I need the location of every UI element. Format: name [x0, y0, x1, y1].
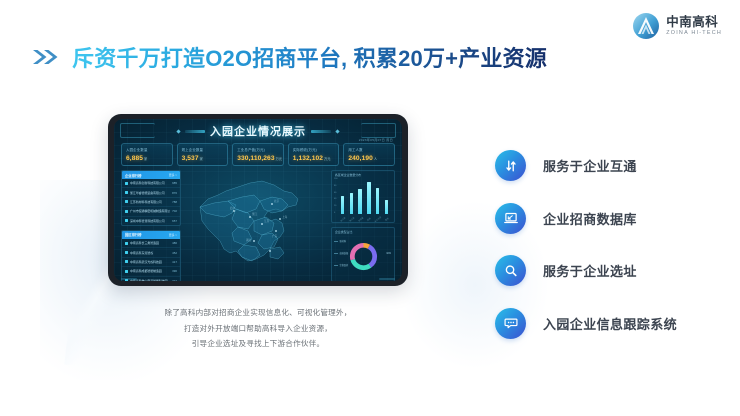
laptop-database-icon	[495, 203, 526, 234]
page-heading: 斥资千万打造O2O招商平台, 积累20万+产业资源	[32, 41, 547, 73]
kpi-card[interactable]: 规上企业数量 3,537家	[177, 143, 229, 166]
kpi-label: 用工人数	[348, 147, 390, 152]
feature-label: 入园企业信息跟踪系统	[543, 314, 677, 333]
feature-label: 企业招商数据库	[543, 209, 637, 228]
feature-item-enterprise-interop[interactable]: 服务于企业互通	[495, 150, 677, 181]
bar-chart-plot	[339, 178, 390, 214]
panel-more-link[interactable]: 更多 >	[169, 173, 177, 177]
y-tick: 80	[334, 185, 336, 187]
bar	[376, 188, 379, 214]
list-item[interactable]: 中南高科创新科技有限公司 985	[122, 179, 180, 188]
feature-item-tracking-system[interactable]: 入园企业信息跟踪系统	[495, 308, 677, 339]
list-item-value: 985	[172, 181, 177, 185]
brand-logo: 中南高科 ZOINA HI-TECH	[632, 12, 722, 40]
list-item[interactable]: 中南高科东莞智谷 452	[122, 248, 180, 257]
panel-title: 园区排行榜	[125, 232, 141, 237]
list-item-label: 深圳中科智慧科技有限公司	[130, 219, 170, 223]
bar	[350, 193, 353, 214]
chat-bubble-icon	[495, 308, 526, 339]
bar	[358, 189, 361, 214]
bar-column	[365, 178, 372, 214]
kpi-card[interactable]: 工业总产值(万元) 330,110,263万元	[232, 143, 284, 166]
list-item-label: 浙江华睿智能装备有限公司	[130, 191, 170, 195]
kpi-label: 工业总产值(万元)	[237, 147, 279, 152]
china-map-svg: 北京 上海 广东 江苏 浙江 湖北 四川	[184, 169, 326, 277]
kpi-card-row: 入园企业数量 6,885家 规上企业数量 3,537家 工业总产值(万元) 33…	[121, 143, 395, 166]
kpi-card[interactable]: 用工人数 240,190人	[343, 143, 395, 166]
bar	[341, 196, 344, 214]
y-tick: 100	[334, 178, 337, 180]
svg-text:上海: 上海	[282, 215, 288, 219]
panel-more-link[interactable]: 更多 >	[169, 233, 177, 237]
header-deco-left	[185, 130, 205, 133]
x-tick: 其他	[384, 217, 389, 222]
list-item[interactable]: 江苏新材料科技有限公司 788	[122, 198, 180, 207]
header-deco-right	[311, 130, 331, 133]
svg-text:湖北: 湖北	[246, 238, 252, 242]
screen-footer	[114, 278, 402, 279]
tablet-device-mockup: 入园企业情况展示 2023年05月07日 周日 入园企业数量 6,885家 规上…	[108, 114, 408, 286]
y-tick: 0	[334, 212, 335, 214]
caption-block: 除了高科内部对招商企业实现信息化、可视化管理外， 打造对外开放端口帮助高科导入企…	[108, 305, 408, 352]
list-item-label: 中南高科武汉光谷科技园	[130, 260, 170, 264]
feature-label: 服务于企业互通	[543, 156, 637, 175]
svg-text:浙江: 浙江	[252, 212, 258, 216]
feature-list: 服务于企业互通 企业招商数据库 服务于企业选址	[495, 150, 677, 339]
caption-line: 打造对外开放端口帮助高科导入企业资源，	[108, 321, 408, 337]
bullet-icon	[125, 200, 128, 203]
list-item-label: 中南高科长三角智造园	[130, 241, 170, 245]
kpi-value: 6,885家	[126, 155, 168, 162]
list-item-value: 417	[172, 260, 177, 264]
list-item-label: 广州市恒通精密机械制造有限公司	[130, 209, 170, 213]
bullet-icon	[125, 260, 128, 263]
kpi-value: 240,190人	[348, 155, 390, 162]
bar	[385, 200, 388, 214]
kpi-unit: 万元	[324, 157, 331, 161]
feature-item-site-selection[interactable]: 服务于企业选址	[495, 255, 677, 286]
kpi-label: 规上企业数量	[182, 147, 224, 152]
bullet-icon	[125, 191, 128, 194]
dashboard-timestamp: 2023年05月07日 周日	[359, 137, 393, 142]
svg-text:四川: 四川	[230, 206, 236, 210]
ranking-panel-parks: 园区排行榜 更多 > 中南高科长三角智造园 486 中南高科东莞智谷 452 中…	[121, 230, 181, 281]
china-map[interactable]: 北京 上海 广东 江苏 浙江 湖北 四川	[184, 169, 326, 277]
kpi-value: 1,132,102万元	[293, 155, 335, 162]
list-item-label: 中南高科成都智能制造园	[130, 269, 170, 273]
footer-bar-right	[379, 278, 395, 279]
x-tick: 成渝	[366, 217, 371, 222]
dashboard-right-column: 各区域企业数量分布 100 80 60 40 20 0	[331, 170, 395, 281]
svg-text:江苏: 江苏	[264, 219, 270, 223]
bullet-icon	[125, 251, 128, 254]
x-tick: 珠三角	[349, 216, 356, 222]
svg-text:广东: 广东	[272, 234, 278, 238]
header-dot-left	[176, 129, 180, 133]
x-tick: 京津冀	[358, 216, 365, 222]
kpi-unit: 人	[374, 157, 377, 161]
x-tick: 长三角	[340, 216, 347, 222]
list-item[interactable]: 中南高科成都智能制造园 396	[122, 267, 180, 276]
list-item-value: 702	[172, 209, 177, 213]
kpi-unit: 家	[200, 157, 203, 161]
magnifier-search-icon	[495, 255, 526, 286]
list-item[interactable]: 深圳中科智慧科技有限公司 657	[122, 217, 180, 225]
caption-line: 引导企业选址及寻找上下游合作伙伴。	[108, 336, 408, 352]
bar-column	[374, 178, 381, 214]
ranking-panel-enterprises: 企业排行榜 更多 > 中南高科创新科技有限公司 985 浙江华睿智能装备有限公司…	[121, 170, 181, 226]
kpi-unit: 万元	[276, 157, 283, 161]
list-item-value: 486	[172, 241, 177, 245]
bar-chart-title: 各区域企业数量分布	[332, 171, 394, 177]
dashboard-screen: 入园企业情况展示 2023年05月07日 周日 入园企业数量 6,885家 规上…	[114, 119, 402, 281]
donut-chart-panel[interactable]: 企业类型占比 新材料 高端装备 生物医药 32%	[331, 227, 395, 281]
kpi-unit: 家	[144, 157, 147, 161]
double-chevron-right-icon	[32, 47, 62, 67]
y-tick: 20	[334, 205, 336, 207]
logo-title-cn: 中南高科	[666, 16, 722, 29]
list-item[interactable]: 中南高科武汉光谷科技园 417	[122, 258, 180, 267]
bullet-icon	[125, 270, 128, 273]
kpi-value: 3,537家	[182, 155, 224, 162]
kpi-label: 实际税收(万元)	[293, 147, 335, 152]
list-item-label: 中南高科东莞智谷	[130, 251, 170, 255]
svg-text:北京: 北京	[274, 199, 280, 203]
bar-column	[383, 178, 390, 214]
kpi-value: 330,110,263万元	[237, 155, 279, 162]
x-tick: 长江中游	[374, 216, 382, 223]
page-title: 斥资千万打造O2O招商平台, 积累20万+产业资源	[72, 41, 547, 73]
list-item-label: 中南高科创新科技有限公司	[130, 181, 170, 185]
bar-chart-x-axis: 长三角 珠三角 京津冀 成渝 长江中游 其他	[339, 218, 390, 221]
bar-column	[339, 178, 346, 214]
panel-header: 企业排行榜 更多 >	[122, 171, 180, 179]
logo-title-en: ZOINA HI-TECH	[666, 31, 722, 36]
bar-column	[348, 178, 355, 214]
list-item-value: 452	[172, 251, 177, 255]
feature-label: 服务于企业选址	[543, 261, 637, 280]
exchange-arrows-icon	[495, 150, 526, 181]
panel-title: 企业排行榜	[125, 173, 141, 178]
list-item-value: 396	[172, 269, 177, 273]
donut-chart-plot	[332, 234, 394, 279]
list-item-value: 657	[172, 219, 177, 223]
bar	[367, 182, 370, 214]
bullet-icon	[125, 182, 128, 185]
list-item-value: 876	[172, 191, 177, 195]
kpi-card[interactable]: 实际税收(万元) 1,132,102万元	[288, 143, 340, 166]
list-item[interactable]: 浙江华睿智能装备有限公司 876	[122, 188, 180, 197]
caption-line: 除了高科内部对招商企业实现信息化、可视化管理外，	[108, 305, 408, 321]
dashboard-left-column: 企业排行榜 更多 > 中南高科创新科技有限公司 985 浙江华睿智能装备有限公司…	[121, 170, 181, 281]
header-dot-right	[335, 129, 339, 133]
donut-center-value: 32%	[386, 252, 391, 255]
bar-chart-panel[interactable]: 各区域企业数量分布 100 80 60 40 20 0	[331, 170, 395, 223]
bar-column	[357, 178, 364, 214]
list-item-value: 788	[172, 200, 177, 204]
kpi-label: 入园企业数量	[126, 147, 168, 152]
dashboard-title: 入园企业情况展示	[210, 123, 306, 139]
donut-chart-svg	[348, 241, 379, 272]
bar-chart-y-axis: 100 80 60 40 20 0	[334, 178, 337, 214]
list-item[interactable]: 广州市恒通精密机械制造有限公司 702	[122, 207, 180, 216]
logo-text-block: 中南高科 ZOINA HI-TECH	[666, 16, 722, 36]
footer-bar-left	[121, 278, 137, 279]
panel-header: 园区排行榜 更多 >	[122, 231, 180, 239]
bullet-icon	[125, 219, 128, 222]
feature-item-investment-database[interactable]: 企业招商数据库	[495, 203, 677, 234]
zoina-mountain-logo-icon	[632, 12, 660, 40]
bullet-icon	[125, 242, 128, 245]
kpi-card[interactable]: 入园企业数量 6,885家	[121, 143, 173, 166]
list-item-label: 江苏新材料科技有限公司	[130, 200, 170, 204]
y-tick: 60	[334, 192, 336, 194]
list-item[interactable]: 中南高科长三角智造园 486	[122, 239, 180, 248]
bullet-icon	[125, 210, 128, 213]
y-tick: 40	[334, 198, 336, 200]
